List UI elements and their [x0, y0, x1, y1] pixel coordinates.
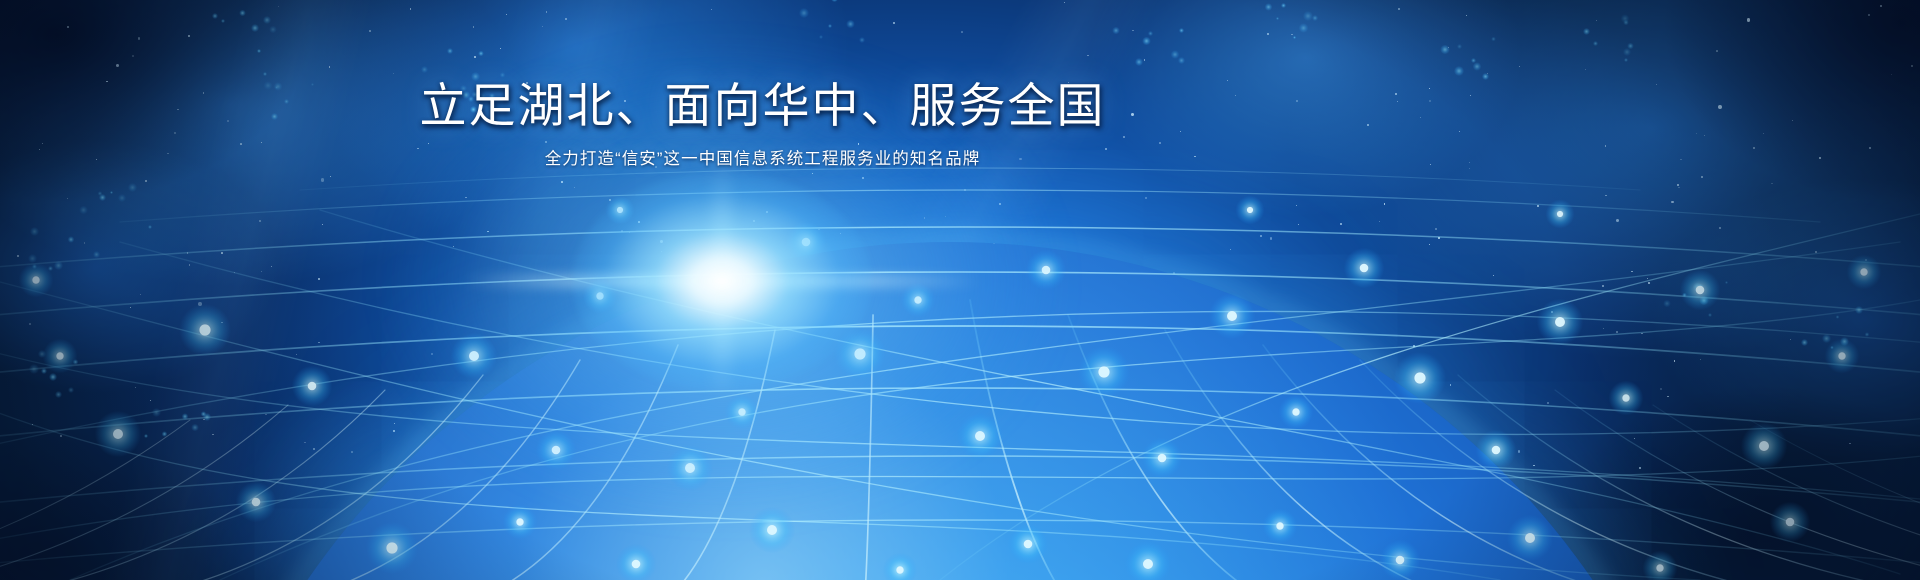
hero-banner: 立足湖北、面向华中、服务全国 全力打造“信安”这一中国信息系统工程服务业的知名品… — [0, 0, 1920, 580]
burst-core — [572, 171, 872, 391]
